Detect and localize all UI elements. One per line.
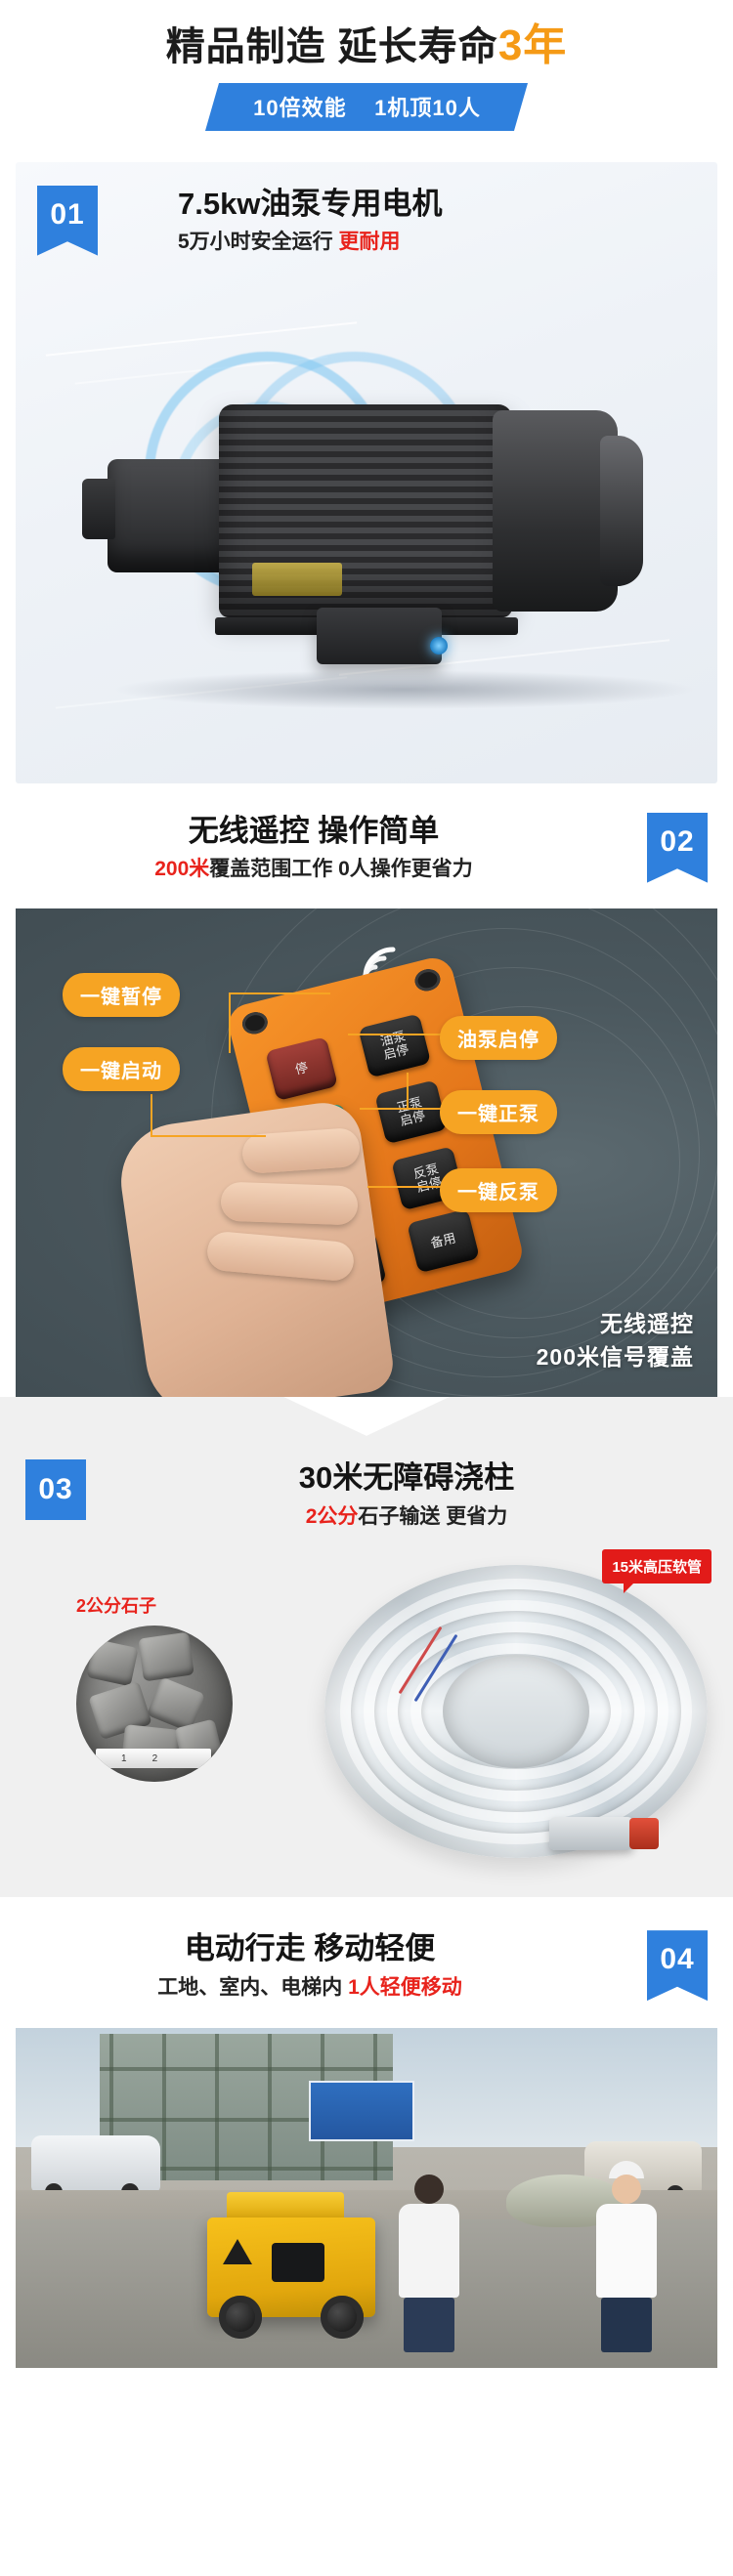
page-title-main: 精品制造 延长寿命 <box>166 25 498 68</box>
page-bottom-spacer <box>0 2386 733 2401</box>
high-pressure-hose-coil <box>324 1565 708 1858</box>
section-01-card: 01 7.5kw油泵专用电机 5万小时安全运行 更耐用 <box>16 162 717 783</box>
white-van <box>31 2135 160 2192</box>
ruler-mark-2: 2 <box>152 1753 158 1764</box>
worker-center <box>399 2175 459 2352</box>
section-04-head-row: 电动行走 移动轻便 工地、室内、电梯内 1人轻便移动 04 <box>0 1930 733 2014</box>
section-01-sub-red: 更耐用 <box>339 231 401 253</box>
section-03-sub-red: 2公分 <box>306 1505 359 1528</box>
electric-pump-machine <box>207 2217 375 2339</box>
section-02-head-row: 无线遥控 操作简单 200米覆盖范围工作 0人操作更省力 02 <box>0 813 733 899</box>
section-04-sub-red: 1人轻便移动 <box>348 1976 462 1999</box>
section-01-badge-label: 01 <box>50 198 84 232</box>
stone-size-label: 2公分石子 <box>76 1592 156 1618</box>
section-03-headblock: 30米无障碍浇柱 2公分石子输送 更省力 <box>162 1459 651 1532</box>
section-03-sub-normal: 石子输送 更省力 <box>358 1505 507 1528</box>
motor-nameplate <box>252 563 342 596</box>
remote-photo-caption: 无线遥控 200米信号覆盖 <box>537 1308 694 1373</box>
gravel-sample-circle: 1 2 <box>76 1626 233 1782</box>
section-01-subtitle: 5万小时安全运行 更耐用 <box>178 227 717 258</box>
section-01-head-row: 01 7.5kw油泵专用电机 5万小时安全运行 更耐用 <box>16 162 717 258</box>
section-divider-fold <box>0 1397 733 1436</box>
leader-pause <box>229 994 231 1053</box>
page-header: 精品制造 延长寿命3年 10倍效能 1机顶10人 <box>0 0 733 137</box>
callout-start: 一键启动 <box>63 1047 180 1091</box>
header-banner: 10倍效能 1机顶10人 <box>205 83 529 131</box>
section-03-subtitle: 2公分石子输送 更省力 <box>162 1501 651 1533</box>
section-02-sub-red: 200米 <box>154 858 209 880</box>
motor-pump-head <box>108 459 233 572</box>
leader-pause-h <box>229 992 330 994</box>
remote-control-photo: 停 油泵启停 启动 正泵启停 备用 反泵启停 备用 备用 <box>16 908 717 1397</box>
section-02: 无线遥控 操作简单 200米覆盖范围工作 0人操作更省力 02 <box>0 813 733 1397</box>
section-02-badge: 02 <box>647 813 708 883</box>
section-02-headblock: 无线遥控 操作简单 200米覆盖范围工作 0人操作更省力 <box>25 813 602 885</box>
machine-wheel-right <box>321 2296 364 2339</box>
worker-right <box>596 2161 657 2352</box>
motor-photo <box>16 309 717 778</box>
banner-text-2: 1机顶10人 <box>374 91 481 122</box>
hose-coupler <box>549 1817 633 1850</box>
leader-start-v <box>151 1094 152 1137</box>
leader-forward-v <box>407 1073 409 1110</box>
hose-coil-center <box>443 1655 589 1768</box>
machine-wheel-left <box>219 2296 262 2339</box>
middle-finger <box>220 1181 358 1225</box>
section-03: 03 30米无障碍浇柱 2公分石子输送 更省力 2公分石子 1 2 <box>0 1436 733 1897</box>
section-02-badge-label: 02 <box>660 825 694 859</box>
callout-pause: 一键暂停 <box>63 973 180 1017</box>
callout-reverse: 一键反泵 <box>440 1168 557 1212</box>
product-detail-page: 精品制造 延长寿命3年 10倍效能 1机顶10人 01 7.5kw油泵专用电机 … <box>0 0 733 2401</box>
section-04-badge: 04 <box>647 1930 708 2001</box>
header-banner-wrap: 10倍效能 1机顶10人 <box>0 83 733 131</box>
page-title: 精品制造 延长寿命3年 <box>0 21 733 71</box>
section-02-title: 无线遥控 操作简单 <box>25 813 602 851</box>
section-01-badge: 01 <box>37 186 98 256</box>
banner-text-1: 10倍效能 <box>253 91 346 122</box>
caption-line-1: 无线遥控 <box>537 1308 694 1340</box>
motor-illustration <box>72 377 668 670</box>
section-01-headblock: 7.5kw油泵专用电机 5万小时安全运行 更耐用 <box>178 186 717 258</box>
section-04: 电动行走 移动轻便 工地、室内、电梯内 1人轻便移动 04 <box>0 1930 733 2368</box>
leader-start-h <box>151 1135 266 1137</box>
section-03-badge: 03 <box>25 1459 86 1520</box>
section-04-sub-normal: 工地、室内、电梯内 <box>157 1976 348 1999</box>
section-04-subtitle: 工地、室内、电梯内 1人轻便移动 <box>25 1972 594 2004</box>
motor-shadow <box>111 670 698 709</box>
section-03-badge-label: 03 <box>38 1473 72 1506</box>
ruler-mark-1: 1 <box>121 1753 127 1764</box>
section-02-subtitle: 200米覆盖范围工作 0人操作更省力 <box>25 854 602 885</box>
section-02-sub-normal: 覆盖范围工作 0人操作更省力 <box>209 858 473 880</box>
section-03-title: 30米无障碍浇柱 <box>162 1459 651 1498</box>
caption-line-2: 200米信号覆盖 <box>537 1341 694 1373</box>
section-03-head-row: 03 30米无障碍浇柱 2公分石子输送 更省力 <box>0 1450 733 1532</box>
callout-forward: 一键正泵 <box>440 1090 557 1134</box>
scale-ruler: 1 2 <box>96 1749 211 1768</box>
motor-front-shell <box>493 410 618 612</box>
callout-pump: 油泵启停 <box>440 1016 557 1060</box>
hose-length-tag: 15米高压软管 <box>602 1549 711 1584</box>
construction-site-photo <box>16 2028 717 2368</box>
section-04-title: 电动行走 移动轻便 <box>25 1930 594 1968</box>
section-04-badge-label: 04 <box>660 1943 694 1976</box>
hose-and-stones-photo: 2公分石子 1 2 <box>16 1549 717 1872</box>
section-04-headblock: 电动行走 移动轻便 工地、室内、电梯内 1人轻便移动 <box>25 1930 594 2003</box>
section-01-sub-normal: 5万小时安全运行 <box>178 231 333 253</box>
site-signboard <box>309 2081 414 2141</box>
page-title-accent: 3年 <box>498 21 567 69</box>
section-01-title: 7.5kw油泵专用电机 <box>178 186 717 224</box>
motor-end-cap <box>600 436 643 586</box>
motor-junction-box <box>317 608 442 664</box>
section-01: 01 7.5kw油泵专用电机 5万小时安全运行 更耐用 <box>0 162 733 783</box>
